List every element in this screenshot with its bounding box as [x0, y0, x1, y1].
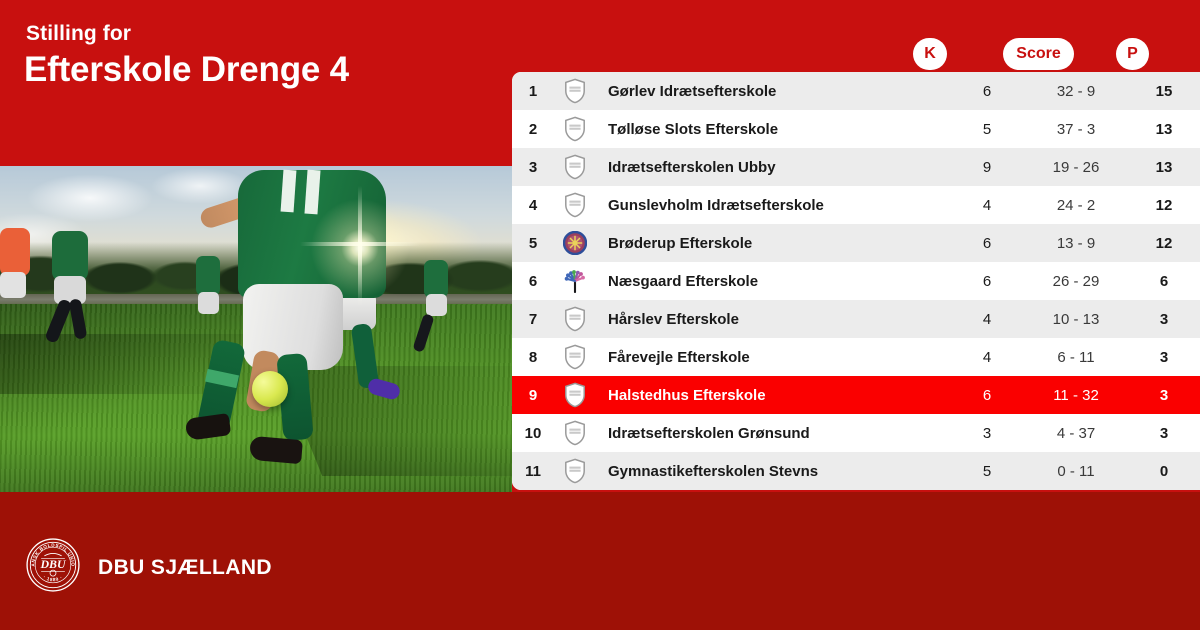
- row-rank: 1: [512, 83, 554, 100]
- row-rank: 2: [512, 121, 554, 138]
- table-row[interactable]: 5Brøderup Efterskole613 - 912: [512, 224, 1200, 262]
- football-match-photo: [0, 166, 512, 492]
- row-matches-played: 4: [950, 311, 1024, 328]
- row-matches-played: 5: [950, 121, 1024, 138]
- row-matches-played: 9: [950, 159, 1024, 176]
- header-kicker: Stilling for: [26, 22, 131, 46]
- row-goal-score: 37 - 3: [1024, 121, 1128, 138]
- row-matches-played: 6: [950, 387, 1024, 404]
- club-logo-icon: [554, 344, 596, 370]
- row-points: 3: [1128, 311, 1200, 328]
- distant-player: [54, 276, 86, 304]
- club-logo-icon: [554, 192, 596, 218]
- row-rank: 10: [512, 425, 554, 442]
- row-matches-played: 4: [950, 197, 1024, 214]
- distant-player: [196, 256, 220, 296]
- row-goal-score: 24 - 2: [1024, 197, 1128, 214]
- table-row[interactable]: 1Gørlev Idrætsefterskole632 - 915: [512, 72, 1200, 110]
- club-logo-icon: [554, 382, 596, 408]
- svg-text:DBU: DBU: [39, 557, 66, 571]
- row-points: 12: [1128, 197, 1200, 214]
- row-rank: 11: [512, 463, 554, 480]
- row-rank: 9: [512, 387, 554, 404]
- sun-flare-ray: [358, 186, 362, 306]
- row-team-name: Idrætsefterskolen Ubby: [596, 159, 950, 176]
- row-team-name: Gunslevholm Idrætsefterskole: [596, 197, 950, 214]
- footer-label: DBU SJÆLLAND: [98, 556, 272, 580]
- table-row[interactable]: 9Halstedhus Efterskole611 - 323: [512, 376, 1200, 414]
- row-goal-score: 32 - 9: [1024, 83, 1128, 100]
- row-team-name: Tølløse Slots Efterskole: [596, 121, 950, 138]
- row-team-name: Gymnastikefterskolen Stevns: [596, 463, 950, 480]
- row-goal-score: 10 - 13: [1024, 311, 1128, 328]
- row-team-name: Halstedhus Efterskole: [596, 387, 950, 404]
- row-team-name: Fårevejle Efterskole: [596, 349, 950, 366]
- club-logo-icon: [554, 420, 596, 446]
- row-points: 15: [1128, 83, 1200, 100]
- column-header-k: K: [913, 38, 947, 70]
- row-points: 3: [1128, 349, 1200, 366]
- row-rank: 4: [512, 197, 554, 214]
- column-header-p: P: [1116, 38, 1149, 70]
- poster-canvas: Stilling for Efterskole Drenge 4: [0, 0, 1200, 630]
- row-goal-score: 11 - 32: [1024, 387, 1128, 404]
- football-ball: [252, 371, 288, 407]
- distant-player: [426, 294, 447, 316]
- header-block: Stilling for Efterskole Drenge 4: [0, 0, 512, 166]
- row-points: 6: [1128, 273, 1200, 290]
- table-row[interactable]: 2Tølløse Slots Efterskole537 - 313: [512, 110, 1200, 148]
- footer-bar: DBU DANSK BOLDSPIL UNION · 1889 · DBU SJ…: [0, 492, 1200, 630]
- row-rank: 3: [512, 159, 554, 176]
- row-points: 3: [1128, 425, 1200, 442]
- standings-table: 1Gørlev Idrætsefterskole632 - 9152Tølløs…: [512, 72, 1200, 490]
- row-points: 12: [1128, 235, 1200, 252]
- row-points: 13: [1128, 121, 1200, 138]
- club-logo-icon: [554, 231, 596, 255]
- distant-player: [0, 272, 26, 298]
- table-row[interactable]: 4Gunslevholm Idrætsefterskole424 - 212: [512, 186, 1200, 224]
- club-logo-icon: [554, 78, 596, 104]
- table-row[interactable]: 8Fårevejle Efterskole46 - 113: [512, 338, 1200, 376]
- row-matches-played: 6: [950, 273, 1024, 290]
- row-matches-played: 6: [950, 235, 1024, 252]
- row-rank: 6: [512, 273, 554, 290]
- footer-brand: DBU DANSK BOLDSPIL UNION · 1889 · DBU SJ…: [26, 538, 272, 597]
- row-matches-played: 5: [950, 463, 1024, 480]
- distant-player: [198, 292, 219, 314]
- table-row[interactable]: 11Gymnastikefterskolen Stevns50 - 110: [512, 452, 1200, 490]
- row-goal-score: 26 - 29: [1024, 273, 1128, 290]
- row-goal-score: 0 - 11: [1024, 463, 1128, 480]
- row-rank: 5: [512, 235, 554, 252]
- row-team-name: Hårslev Efterskole: [596, 311, 950, 328]
- club-logo-icon: [554, 154, 596, 180]
- row-goal-score: 19 - 26: [1024, 159, 1128, 176]
- row-team-name: Brøderup Efterskole: [596, 235, 950, 252]
- row-points: 3: [1128, 387, 1200, 404]
- row-team-name: Idrætsefterskolen Grønsund: [596, 425, 950, 442]
- table-row[interactable]: 6Næsgaard Efterskole626 - 296: [512, 262, 1200, 300]
- row-points: 13: [1128, 159, 1200, 176]
- row-matches-played: 3: [950, 425, 1024, 442]
- club-logo-icon: [554, 269, 596, 293]
- main-player: [249, 436, 303, 464]
- row-team-name: Næsgaard Efterskole: [596, 273, 950, 290]
- row-matches-played: 6: [950, 83, 1024, 100]
- dbu-logo: DBU DANSK BOLDSPIL UNION · 1889 ·: [26, 538, 80, 597]
- table-row[interactable]: 3Idrætsefterskolen Ubby919 - 2613: [512, 148, 1200, 186]
- distant-player: [0, 228, 30, 276]
- column-header-score: Score: [1003, 38, 1074, 70]
- distant-player: [52, 231, 88, 281]
- club-logo-icon: [554, 306, 596, 332]
- row-goal-score: 6 - 11: [1024, 349, 1128, 366]
- distant-player: [424, 260, 448, 298]
- row-rank: 8: [512, 349, 554, 366]
- row-goal-score: 13 - 9: [1024, 235, 1128, 252]
- row-matches-played: 4: [950, 349, 1024, 366]
- row-team-name: Gørlev Idrætsefterskole: [596, 83, 950, 100]
- table-row[interactable]: 10Idrætsefterskolen Grønsund34 - 373: [512, 414, 1200, 452]
- page-title: Efterskole Drenge 4: [24, 50, 349, 90]
- table-row[interactable]: 7Hårslev Efterskole410 - 133: [512, 300, 1200, 338]
- row-goal-score: 4 - 37: [1024, 425, 1128, 442]
- club-logo-icon: [554, 116, 596, 142]
- row-rank: 7: [512, 311, 554, 328]
- row-points: 0: [1128, 463, 1200, 480]
- club-logo-icon: [554, 458, 596, 484]
